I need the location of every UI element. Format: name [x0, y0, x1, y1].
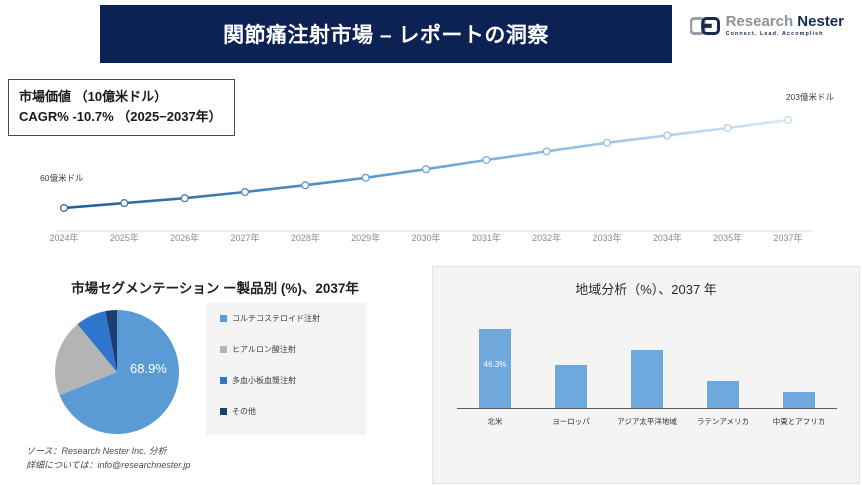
bar-value-label: 46.3%: [484, 360, 507, 369]
line-data-point: [483, 157, 490, 164]
line-data-point: [664, 132, 671, 139]
source-note: ソース：Research Nester Inc. 分析 詳細については：info…: [26, 445, 190, 472]
pie-legend-label: その他: [232, 406, 256, 417]
bar-column[interactable]: [538, 319, 604, 409]
line-data-point: [543, 148, 550, 155]
bar-category-label: アジア太平洋地域: [614, 416, 680, 427]
header-banner: 関節痛注射市場 – レポートの洞察: [100, 5, 672, 63]
pie-legend-item[interactable]: コルチコステロイド注射: [220, 313, 366, 324]
bar-category-label: ヨーロッパ: [538, 416, 604, 427]
line-data-point: [362, 174, 369, 181]
research-nester-logo: Research Nester Connect. Lead. Accomplis…: [690, 14, 844, 37]
bar-column[interactable]: [614, 319, 680, 409]
x-axis-label: 2031年: [472, 231, 501, 244]
x-axis-label: 2035年: [713, 231, 742, 244]
bar-chart-x-labels: 北米ヨーロッパアジア太平洋地域ラテンアメリカ中東とアフリカ: [457, 416, 837, 427]
legend-swatch-icon: [220, 346, 227, 353]
page-header: 関節痛注射市場 – レポートの洞察 Research Nester Connec…: [0, 0, 862, 68]
line-data-point: [181, 195, 188, 202]
pie-legend-item[interactable]: 多血小板血漿注射: [220, 375, 366, 386]
line-data-point: [423, 166, 430, 173]
line-data-point: [724, 125, 731, 132]
pie-highlight-percent: 68.9%: [130, 361, 167, 376]
bar-chart-area: 46.3% 北米ヨーロッパアジア太平洋地域ラテンアメリカ中東とアフリカ: [457, 311, 837, 431]
regional-analysis-title: 地域分析（%）、2037 年: [433, 279, 859, 298]
x-axis-label: 2034年: [653, 231, 682, 244]
line-data-point: [604, 139, 611, 146]
bar: [555, 365, 587, 409]
legend-swatch-icon: [220, 377, 227, 384]
segmentation-title: 市場セグメンテーション ー製品別 (%)、2037年: [0, 277, 430, 297]
pie-legend-label: ヒアルロン酸注射: [232, 344, 296, 355]
pie-legend-item[interactable]: その他: [220, 406, 366, 417]
line-end-label: 203億米ドル: [786, 91, 834, 103]
logo-word-research: Research: [726, 13, 794, 30]
cagr-line: CAGR% -10.7% （2025−2037年）: [19, 107, 222, 127]
logo-wordmark: Research Nester: [726, 14, 844, 29]
pie-legend-label: 多血小板血漿注射: [232, 375, 296, 386]
x-axis-label: 2025年: [110, 231, 139, 244]
bar-column[interactable]: [766, 319, 832, 409]
logo-tagline: Connect. Lead. Accomplish: [726, 32, 844, 37]
x-axis-label: 2026年: [170, 231, 199, 244]
market-value-line: 市場価値 （10億米ドル）: [19, 87, 222, 107]
x-axis-label: 2032年: [532, 231, 561, 244]
bar: [631, 350, 663, 409]
source-line-2: 詳細については：info@researchnester.jp: [26, 459, 190, 473]
link-chain-logo-icon: [690, 15, 720, 37]
market-value-box: 市場価値 （10億米ドル） CAGR% -10.7% （2025−2037年）: [8, 79, 235, 136]
bar-category-label: 北米: [462, 416, 528, 427]
x-axis-label: 2037年: [773, 231, 802, 244]
logo-word-nester: Nester: [797, 13, 844, 30]
line-data-point: [302, 182, 309, 189]
x-axis-label: 2033年: [592, 231, 621, 244]
x-axis-label: 2030年: [411, 231, 440, 244]
bar-chart-baseline: [457, 408, 837, 410]
bar: [707, 381, 739, 409]
regional-analysis-panel: 地域分析（%）、2037 年 46.3% 北米ヨーロッパアジア太平洋地域ラテンア…: [432, 266, 860, 484]
pie-chart-area: 68.9% コルチコステロイド注射ヒアルロン酸注射多血小板血漿注射その他: [0, 305, 430, 440]
bar-column[interactable]: [690, 319, 756, 409]
pie-legend-item[interactable]: ヒアルロン酸注射: [220, 344, 366, 355]
bar: [479, 329, 511, 409]
bar-column[interactable]: 46.3%: [462, 319, 528, 409]
legend-swatch-icon: [220, 408, 227, 415]
page-title: 関節痛注射市場 – レポートの洞察: [223, 19, 549, 49]
line-data-point: [242, 189, 249, 196]
logo-text: Research Nester Connect. Lead. Accomplis…: [726, 14, 844, 37]
pie-legend: コルチコステロイド注射ヒアルロン酸注射多血小板血漿注射その他: [206, 303, 366, 435]
line-data-point: [785, 117, 792, 124]
segmentation-panel: 市場セグメンテーション ー製品別 (%)、2037年 68.9% コルチコステロ…: [0, 263, 430, 485]
line-data-point: [61, 205, 68, 212]
legend-swatch-icon: [220, 315, 227, 322]
x-axis-label: 2027年: [230, 231, 259, 244]
line-start-label: 60億米ドル: [40, 172, 83, 184]
line-chart-x-axis-labels: 2024年2025年2026年2027年2028年2029年2030年2031年…: [0, 231, 862, 253]
x-axis-label: 2024年: [49, 231, 78, 244]
bar-category-label: ラテンアメリカ: [690, 416, 756, 427]
source-line-1: ソース：Research Nester Inc. 分析: [26, 445, 190, 459]
line-data-point: [121, 200, 128, 207]
bar: [783, 392, 815, 409]
x-axis-label: 2028年: [291, 231, 320, 244]
x-axis-label: 2029年: [351, 231, 380, 244]
pie-legend-label: コルチコステロイド注射: [232, 313, 320, 324]
bar-plot: 46.3%: [457, 319, 837, 409]
bar-category-label: 中東とアフリカ: [766, 416, 832, 427]
